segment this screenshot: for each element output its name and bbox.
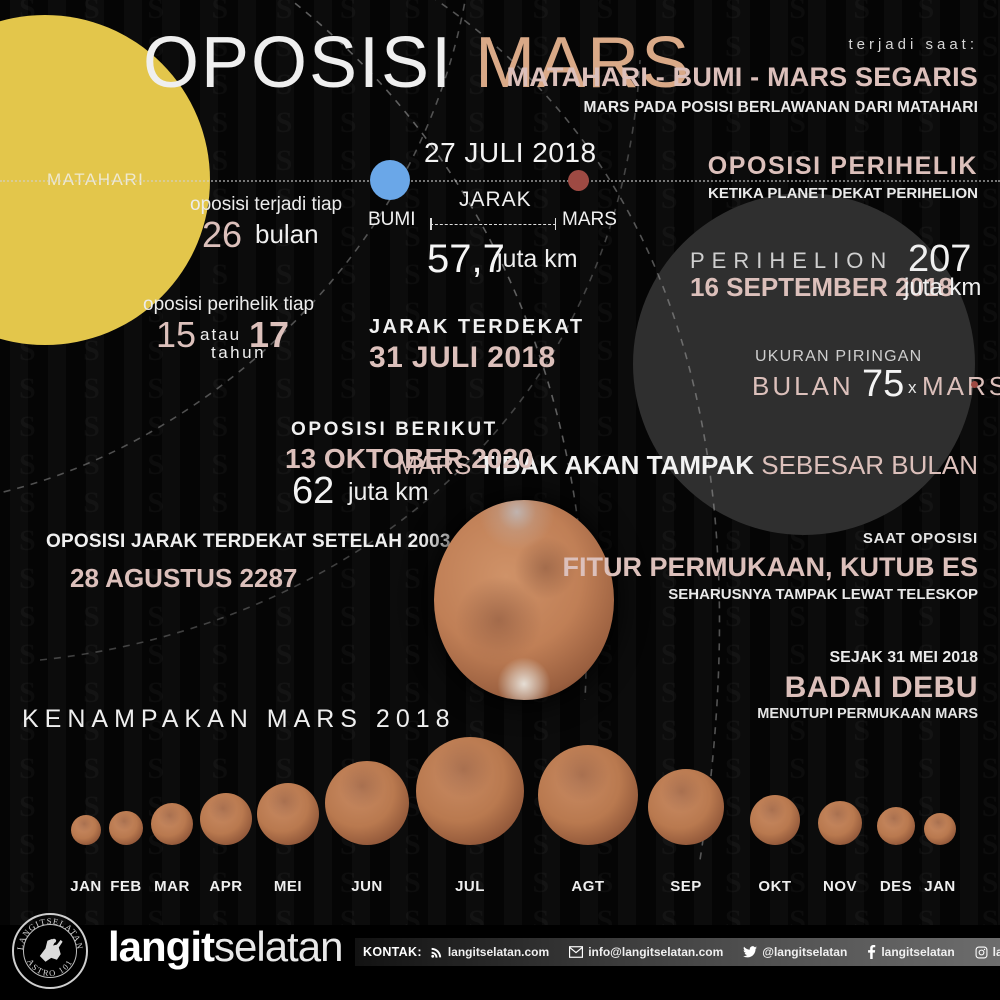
- opposition-every-unit: bulan: [255, 219, 319, 250]
- perihelic-unit: tahun: [211, 343, 266, 363]
- title-part-oposisi: OPOSISI: [143, 23, 453, 103]
- earth-label: BUMI: [368, 209, 416, 231]
- svg-text:LANGITSELATAN: LANGITSELATAN: [15, 916, 85, 951]
- logo-ring-text: LANGITSELATAN ASTRO 101: [12, 913, 88, 989]
- disk-times-symbol: x: [908, 378, 917, 398]
- mars-disc-feb-1: [109, 811, 143, 845]
- mars-disc-jul-6: [416, 737, 524, 845]
- contact-strip: KONTAK: langitselatan.cominfo@langitsela…: [355, 938, 1000, 966]
- mars-disc-jan-0: [71, 815, 101, 845]
- telescope-kicker: SAAT OPOSISI: [863, 530, 978, 547]
- mars-disc-agt-7: [538, 745, 638, 845]
- month-label-agt-7: AGT: [558, 878, 618, 895]
- perihelic-title: OPOSISI PERIHELIK: [708, 152, 978, 181]
- month-label-mei-4: MEI: [258, 878, 318, 895]
- perihelic-or-label: atau: [200, 325, 241, 345]
- infographic-root: S S S S S S S S S S S S S S S S S S S S …: [0, 0, 1000, 1000]
- month-label-sep-8: SEP: [656, 878, 716, 895]
- disk-factor: 75: [862, 363, 904, 406]
- langitselatan-logo: LANGITSELATAN ASTRO 101: [12, 913, 88, 989]
- appearance-heading: KENAMPAKAN MARS 2018: [22, 705, 456, 734]
- contact-label: KONTAK:: [363, 945, 422, 959]
- month-label-apr-3: APR: [196, 878, 256, 895]
- contact-text: @langitselatan: [762, 945, 847, 959]
- next-opposition-label: OPOSISI BERIKUT: [291, 419, 498, 441]
- closest-date: 31 JULI 2018: [369, 341, 556, 375]
- disk-mars-label: MARS: [922, 371, 1000, 402]
- statement-tail: SEBESAR BULAN: [761, 450, 978, 480]
- header-kicker: terjadi saat:: [848, 36, 978, 53]
- month-label-jan-12: JAN: [910, 878, 970, 895]
- contact-item-facebook[interactable]: langitselatan: [867, 945, 954, 959]
- mars-disc-jan-12: [924, 813, 956, 845]
- month-label-okt-9: OKT: [745, 878, 805, 895]
- disk-moon-label: BULAN: [752, 371, 854, 402]
- contact-text: langitselatan.com: [448, 945, 549, 959]
- instagram-icon: [975, 946, 988, 959]
- distance-value: 57,7: [427, 237, 505, 282]
- month-label-nov-10: NOV: [810, 878, 870, 895]
- next-opposition-unit: juta km: [348, 478, 429, 507]
- mars-marker: [568, 170, 589, 191]
- mars-disc-mei-4: [257, 783, 319, 845]
- brand-bold: langit: [108, 923, 214, 970]
- opposition-every-value: 26: [202, 214, 242, 256]
- closest-label: JARAK TERDEKAT: [369, 316, 584, 339]
- mars-disc-sep-8: [648, 769, 724, 845]
- mars-disc-mar-2: [151, 803, 193, 845]
- facebook-icon: [867, 945, 876, 959]
- distance-bar: [430, 218, 556, 230]
- duststorm-headline: BADAI DEBU: [785, 671, 978, 705]
- perihelion-label: PERIHELION: [690, 248, 893, 274]
- jarak-label: JARAK: [459, 188, 532, 212]
- duststorm-kicker: SEJAK 31 MEI 2018: [829, 649, 978, 667]
- perihelic-value-1: 15: [156, 314, 196, 356]
- contact-text: langitselatan: [881, 945, 954, 959]
- mars-disc-jun-5: [325, 761, 409, 845]
- envelope-icon: [569, 946, 583, 958]
- twitter-icon: [743, 946, 757, 958]
- mars-disc-nov-10: [818, 801, 862, 845]
- mars-disc-des-11: [877, 807, 915, 845]
- contact-item-instagram[interactable]: langitselatanmedia: [975, 945, 1000, 959]
- brand-light: selatan: [214, 923, 342, 970]
- rss-icon: [430, 946, 443, 959]
- contact-item-twitter[interactable]: @langitselatan: [743, 945, 847, 959]
- brand-wordmark: langitselatan: [108, 922, 342, 972]
- mars-disc-apr-3: [200, 793, 252, 845]
- distance-unit: juta km: [497, 245, 578, 274]
- opposition-every-label: oposisi terjadi tiap: [190, 194, 342, 216]
- header-headline: MATAHARI - BUMI - MARS SEGARIS: [507, 62, 978, 93]
- mars-label: MARS: [562, 209, 617, 231]
- mars-disc-okt-9: [750, 795, 800, 845]
- contact-text: langitselatanmedia: [993, 945, 1000, 959]
- earth-marker: [370, 160, 410, 200]
- svg-text:ASTRO 101: ASTRO 101: [25, 957, 75, 978]
- telescope-headline: FITUR PERMUKAAN, KUTUB ES: [563, 552, 979, 583]
- perihelic-every-label: oposisi perihelik tiap: [143, 294, 314, 316]
- perihelion-unit: juta km: [904, 274, 981, 302]
- telescope-sub: SEHARUSNYA TAMPAK LEWAT TELESKOP: [668, 586, 978, 603]
- contact-item-envelope[interactable]: info@langitselatan.com: [569, 945, 723, 959]
- record-label: OPOSISI JARAK TERDEKAT SETELAH 2003: [46, 531, 451, 553]
- next-opposition-value: 62: [292, 470, 334, 513]
- opposition-date: 27 JULI 2018: [424, 137, 597, 169]
- month-label-jul-6: JUL: [440, 878, 500, 895]
- perihelic-sub: KETIKA PLANET DEKAT PERIHELION: [708, 185, 978, 202]
- record-date: 28 AGUSTUS 2287: [70, 563, 297, 594]
- mars-scale-dot: [971, 381, 978, 388]
- contact-item-rss[interactable]: langitselatan.com: [430, 945, 549, 959]
- month-label-jun-5: JUN: [337, 878, 397, 895]
- contact-text: info@langitselatan.com: [588, 945, 723, 959]
- mars-photo: [434, 500, 614, 700]
- month-label-mar-2: MAR: [142, 878, 202, 895]
- duststorm-sub: MENUTUPI PERMUKAAN MARS: [757, 706, 978, 722]
- header-sub: MARS PADA POSISI BERLAWANAN DARI MATAHAR…: [584, 99, 978, 117]
